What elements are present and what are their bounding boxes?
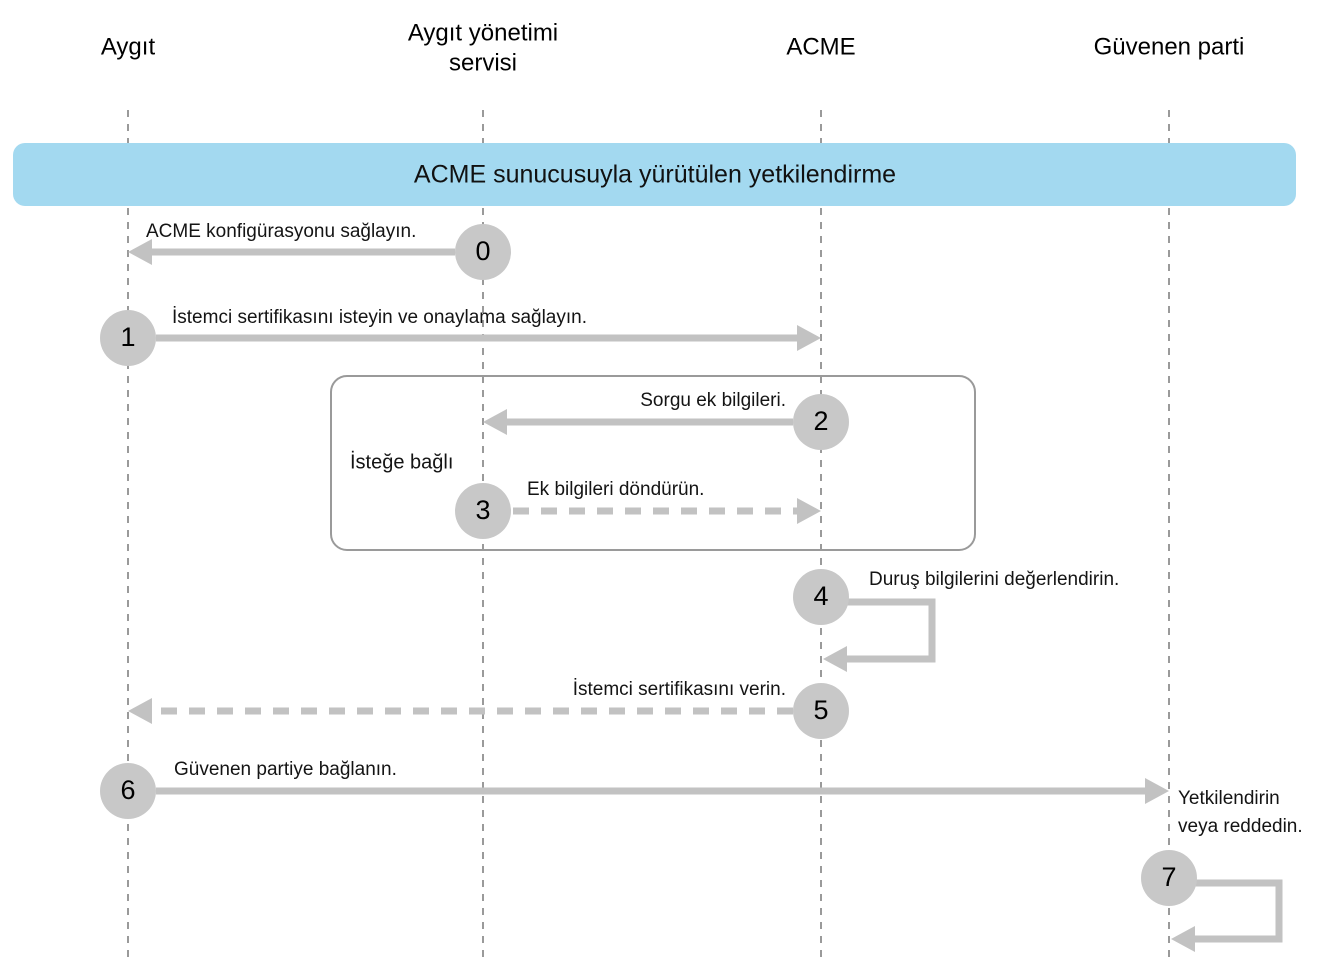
- step-3-number: 3: [475, 495, 490, 525]
- lifeline-label-mdm-line1: Aygıt yönetimi: [408, 19, 558, 46]
- step-0-label: ACME konfigürasyonu sağlayın.: [146, 221, 416, 242]
- step-7-selfloop-path: [1193, 883, 1279, 939]
- step-7-number: 7: [1161, 862, 1176, 892]
- step-6-arrowhead: [1145, 778, 1169, 804]
- step-3: Ek bilgileri döndürün. 3: [455, 479, 821, 539]
- step-7: Yetkilendirin veya reddedin. 7: [1141, 788, 1303, 952]
- step-1-arrowhead: [797, 325, 821, 351]
- step-1-number: 1: [120, 322, 135, 352]
- step-0-arrowhead: [128, 239, 152, 265]
- step-0-number: 0: [475, 236, 490, 266]
- lifeline-label-device: Aygıt: [101, 33, 156, 60]
- sequence-diagram: Aygıt Aygıt yönetimi servisi ACME Güvene…: [0, 0, 1319, 963]
- step-5: İstemci sertifikasını verin. 5: [128, 679, 849, 739]
- lifeline-label-mdm-line2: servisi: [449, 49, 517, 76]
- step-7-arrowhead: [1171, 926, 1195, 952]
- step-1: İstemci sertifikasını isteyin ve onaylam…: [100, 307, 821, 366]
- step-5-number: 5: [813, 695, 828, 725]
- step-2-arrowhead: [483, 409, 507, 435]
- lifeline-label-acme: ACME: [786, 33, 855, 60]
- phase-band: ACME sunucusuyla yürütülen yetkilendirme: [13, 143, 1296, 206]
- step-6-label: Güvenen partiye bağlanın.: [174, 759, 397, 780]
- lifeline-headers: Aygıt Aygıt yönetimi servisi ACME Güvene…: [101, 19, 1245, 76]
- step-6: Güvenen partiye bağlanın. 6: [100, 759, 1169, 819]
- step-5-label: İstemci sertifikasını verin.: [573, 679, 786, 700]
- step-4-selfloop-path: [845, 602, 932, 659]
- step-7-label-line1: Yetkilendirin: [1178, 788, 1280, 809]
- step-4-number: 4: [813, 581, 828, 611]
- step-4-arrowhead: [823, 646, 847, 672]
- step-4-label: Duruş bilgilerini değerlendirin.: [869, 569, 1119, 590]
- step-5-arrowhead: [128, 698, 152, 724]
- lifeline-label-relying-party: Güvenen parti: [1094, 33, 1245, 60]
- step-3-label: Ek bilgileri döndürün.: [527, 479, 704, 500]
- phase-band-label: ACME sunucusuyla yürütülen yetkilendirme: [414, 161, 896, 189]
- step-1-label: İstemci sertifikasını isteyin ve onaylam…: [172, 307, 587, 328]
- step-2-number: 2: [813, 406, 828, 436]
- step-2-label: Sorgu ek bilgileri.: [640, 390, 786, 411]
- step-2: Sorgu ek bilgileri. 2: [483, 390, 849, 450]
- step-7-label-line2: veya reddedin.: [1178, 816, 1303, 837]
- step-4: Duruş bilgilerini değerlendirin. 4: [793, 569, 1119, 672]
- step-0: ACME konfigürasyonu sağlayın. 0: [128, 221, 511, 280]
- step-3-arrowhead: [797, 498, 821, 524]
- optional-fragment-label: İsteğe bağlı: [350, 450, 453, 473]
- step-6-number: 6: [120, 775, 135, 805]
- diagram-canvas: Aygıt Aygıt yönetimi servisi ACME Güvene…: [0, 0, 1319, 963]
